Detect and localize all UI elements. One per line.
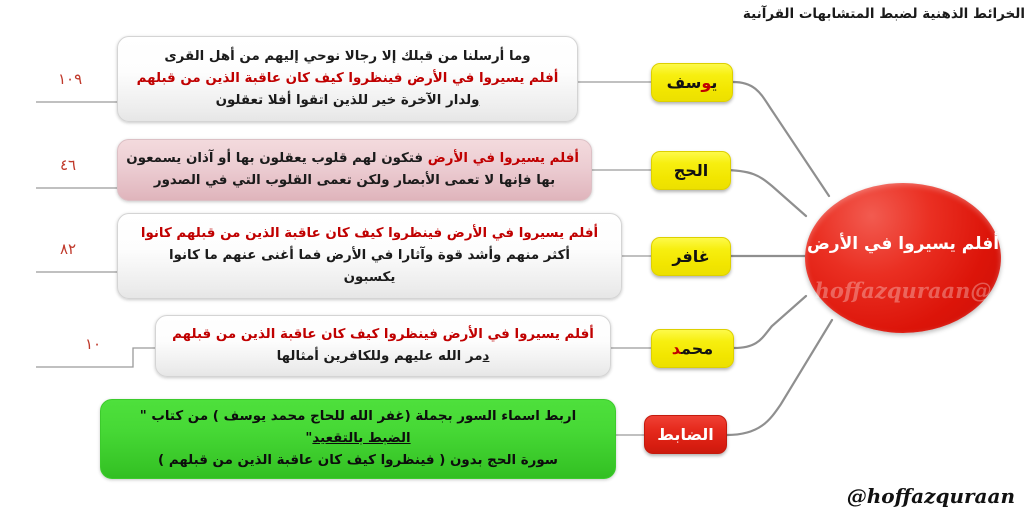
surah-pill-yusuf[interactable]: يوسف <box>651 63 733 102</box>
verse-box-dabit: اربط اسماء السور بجملة (غفر الله للحاج م… <box>100 399 616 479</box>
surah-pill-label: غافر <box>672 247 709 266</box>
verse-number-1: ١٠٩ <box>58 70 82 88</box>
mindmap-canvas: الخرائط الذهنية لضبط المتشابهات القرآنية… <box>0 0 1033 518</box>
surah-pill-label: الضابط <box>657 425 713 444</box>
verse-line-highlight: أفلم يسيروا في الأرض فينظروا كيف كان عاق… <box>130 68 565 90</box>
center-watermark: @hoffazquraan <box>805 278 1001 303</box>
verse-line: أفلم يسيروا في الأرض فتكون لهم قلوب يعقل… <box>130 148 579 170</box>
verse-box-muhammad: أفلم يسيروا في الأرض فينظروا كيف كان عاق… <box>155 315 611 377</box>
verse-line: سورة الحج بدون ( فينظروا كيف كان عاقبة ا… <box>113 450 603 472</box>
verse-line: ولدار الآخرة خير للذين اتقوا أفلا تعقلون <box>130 90 565 112</box>
radial-line-4 <box>734 296 806 348</box>
verse-line: دمر الله عليهم وللكافرين أمثالها <box>168 346 598 368</box>
verse-line: اربط اسماء السور بجملة (غفر الله للحاج م… <box>113 406 603 428</box>
surah-pill-label: محمد <box>672 339 713 358</box>
verse-number-4: ١٠ <box>85 335 101 353</box>
surah-pill-dabit[interactable]: الضابط <box>644 415 727 454</box>
verse-line-rest: لدار الآخرة خير للذين اتقوا أفلا تعقلون <box>216 93 472 108</box>
surah-pill-hajj[interactable]: الحج <box>651 151 731 190</box>
verse-box-ghafir: أفلم يسيروا في الأرض فينظروا كيف كان عاق… <box>117 213 622 299</box>
verse-line-highlight: أفلم يسيروا في الأرض فينظروا كيف كان عاق… <box>168 324 598 346</box>
verse-number-3: ٨٢ <box>60 240 76 258</box>
radial-line-1 <box>733 82 829 196</box>
radial-line-5 <box>727 320 832 435</box>
verse-box-hajj: أفلم يسيروا في الأرض فتكون لهم قلوب يعقل… <box>117 139 592 201</box>
verse-line: الضبط بالتقعيد" <box>113 428 603 450</box>
verse-line-highlight: أفلم يسيروا في الأرض فينظروا كيف كان عاق… <box>130 223 609 245</box>
surah-pill-label: يوسف <box>667 73 718 92</box>
footer-watermark: @hoffazquraan <box>847 484 1015 508</box>
verse-line: أكثر منهم وأشد قوة وآثارا في الأرض فما أ… <box>130 245 609 267</box>
verse-number-2: ٤٦ <box>60 156 76 174</box>
surah-pill-muhammad[interactable]: محمد <box>651 329 734 368</box>
center-node[interactable]: أفلم يسيروا في الأرض @hoffazquraan <box>805 183 1001 333</box>
radial-line-2 <box>722 170 806 216</box>
verse-line: وما أرسلنا من قبلك إلا رجالا نوحي إليهم … <box>130 46 565 68</box>
page-title: الخرائط الذهنية لضبط المتشابهات القرآنية <box>0 6 1025 22</box>
verse-line: يكسبون <box>130 267 609 289</box>
verse-box-yusuf: وما أرسلنا من قبلك إلا رجالا نوحي إليهم … <box>117 36 578 122</box>
verse-line: بها فإنها لا تعمى الأبصار ولكن تعمى القل… <box>130 170 579 192</box>
center-node-label: أفلم يسيروا في الأرض <box>807 234 999 254</box>
surah-pill-ghafir[interactable]: غافر <box>651 237 731 276</box>
surah-pill-label: الحج <box>674 161 709 180</box>
